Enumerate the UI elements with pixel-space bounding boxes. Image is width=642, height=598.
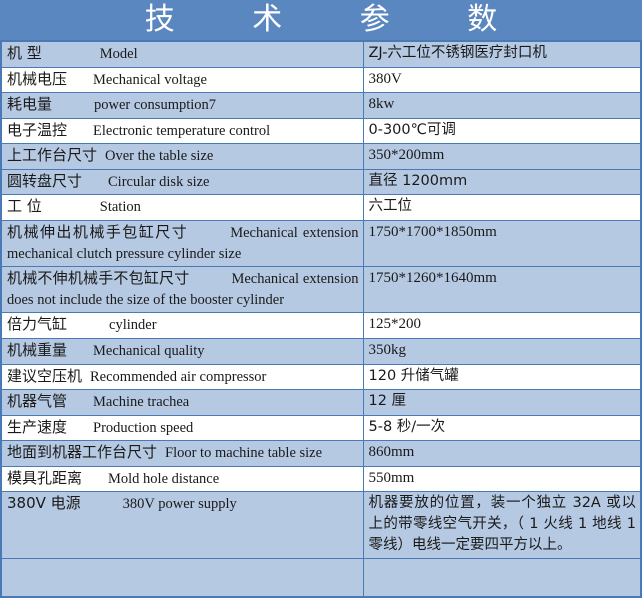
table-row: 工 位Station 六工位	[1, 195, 641, 221]
row-label-en: Model	[100, 46, 138, 62]
row-label: 地面到机器工作台尺寸Floor to machine table size	[7, 442, 359, 464]
row-value: 350kg	[369, 340, 637, 361]
row-label-cell: 机械伸出机械手包缸尺寸Mechanical extension mechanic…	[1, 221, 363, 267]
row-label-en: power consumption7	[94, 97, 216, 113]
row-label-en: Mechanical quality	[93, 343, 205, 359]
row-label-en: Station	[100, 199, 141, 215]
row-label-cn: 机械不伸机械手不包缸尺寸	[7, 269, 189, 287]
row-value-cell: 12 厘	[363, 390, 641, 416]
row-label-cn: 机械重量	[7, 341, 67, 359]
row-label: 工 位Station	[7, 196, 359, 218]
row-label-cell: 机械不伸机械手不包缸尺寸Mechanical extension does no…	[1, 267, 363, 313]
row-label-cn: 模具孔距离	[7, 469, 82, 487]
row-label: 380V 电源380V power supply	[7, 493, 359, 515]
technical-parameters-sheet: 技 术 参 数 机 型Model ZJ-六工位不锈钢医疗封口机 机械电压Mech…	[0, 0, 642, 566]
row-label: 机械伸出机械手包缸尺寸Mechanical extension mechanic…	[7, 222, 359, 264]
table-row: 机械伸出机械手包缸尺寸Mechanical extension mechanic…	[1, 221, 641, 267]
title-band: 技 术 参 数	[0, 0, 642, 40]
row-label-cell: 生产速度Production speed	[1, 415, 363, 441]
spec-table-body: 机 型Model ZJ-六工位不锈钢医疗封口机 机械电压Mechanical v…	[1, 41, 641, 597]
row-label: 上工作台尺寸Over the table size	[7, 145, 359, 167]
row-value: 350*200mm	[369, 145, 637, 166]
row-label-cell: 机械重量Mechanical quality	[1, 338, 363, 364]
row-value: 六工位	[369, 196, 637, 217]
row-label-cell: 工 位Station	[1, 195, 363, 221]
row-label: 机械电压Mechanical voltage	[7, 69, 359, 91]
row-label-cell: 建议空压机Recommended air compressor	[1, 364, 363, 390]
row-label-en: Electronic temperature control	[93, 123, 270, 139]
row-value-cell: 机器要放的位置，装一个独立 32A 或以上的带零线空气开关，（ 1 火线 1 地…	[363, 492, 641, 559]
row-value-cell: 0-300℃可调	[363, 118, 641, 144]
row-value: 1750*1260*1640mm	[369, 268, 637, 289]
row-label-cell: 耗电量power consumption7	[1, 93, 363, 119]
row-value-cell: 六工位	[363, 195, 641, 221]
table-row: 倍力气缸cylinder 125*200	[1, 313, 641, 339]
table-row: 机 型Model ZJ-六工位不锈钢医疗封口机	[1, 41, 641, 67]
row-label-cell: 地面到机器工作台尺寸Floor to machine table size	[1, 441, 363, 467]
row-label-cn: 上工作台尺寸	[7, 146, 97, 164]
row-label-cell: 上工作台尺寸Over the table size	[1, 144, 363, 170]
row-label-cn: 电子温控	[7, 121, 67, 139]
row-label: 机械重量Mechanical quality	[7, 340, 359, 362]
table-row: 建议空压机Recommended air compressor 120 升储气罐	[1, 364, 641, 390]
row-value: 直径 1200mm	[369, 171, 637, 192]
row-value-cell: 550mm	[363, 466, 641, 492]
page-title: 技 术 参 数	[111, 5, 532, 35]
row-value: 380V	[369, 69, 637, 90]
row-label: 模具孔距离Mold hole distance	[7, 468, 359, 490]
row-label: 倍力气缸cylinder	[7, 314, 359, 336]
row-label: 建议空压机Recommended air compressor	[7, 366, 359, 388]
row-value: 550mm	[369, 468, 637, 489]
table-row: 圆转盘尺寸Circular disk size 直径 1200mm	[1, 169, 641, 195]
row-label-cell: 倍力气缸cylinder	[1, 313, 363, 339]
row-label-cn: 380V 电源	[7, 494, 81, 512]
row-value: 机器要放的位置，装一个独立 32A 或以上的带零线空气开关，（ 1 火线 1 地…	[369, 493, 637, 556]
row-value: 125*200	[369, 314, 637, 335]
row-value: 860mm	[369, 442, 637, 463]
row-value-cell: 5-8 秒/一次	[363, 415, 641, 441]
row-label: 机器气管Machine trachea	[7, 391, 359, 413]
row-value-cell: 直径 1200mm	[363, 169, 641, 195]
row-label-cell: 模具孔距离Mold hole distance	[1, 466, 363, 492]
row-value: ZJ-六工位不锈钢医疗封口机	[369, 43, 637, 64]
table-row: 上工作台尺寸Over the table size 350*200mm	[1, 144, 641, 170]
row-value-cell: 8kw	[363, 93, 641, 119]
row-label-en: Over the table size	[105, 148, 213, 164]
row-label-cn: 机 型	[7, 44, 42, 62]
row-label-en: Floor to machine table size	[165, 445, 322, 461]
row-label-cn: 耗电量	[7, 95, 52, 113]
row-label-cell: 圆转盘尺寸Circular disk size	[1, 169, 363, 195]
row-value: 120 升储气罐	[369, 366, 637, 387]
row-label-en: Mechanical voltage	[93, 72, 207, 88]
table-row: 机械电压Mechanical voltage 380V	[1, 67, 641, 93]
row-value-cell	[363, 559, 641, 597]
row-label-cell: 380V 电源380V power supply	[1, 492, 363, 559]
row-label-en: Recommended air compressor	[90, 369, 266, 385]
row-value: 1750*1700*1850mm	[369, 222, 637, 243]
row-label-cn: 机械伸出机械手包缸尺寸	[7, 223, 188, 241]
row-value-cell: 1750*1260*1640mm	[363, 267, 641, 313]
row-label-cn: 圆转盘尺寸	[7, 172, 82, 190]
table-row: 模具孔距离Mold hole distance 550mm	[1, 466, 641, 492]
row-label-en: 380V power supply	[123, 496, 237, 512]
row-value-cell: 1750*1700*1850mm	[363, 221, 641, 267]
row-value: 5-8 秒/一次	[369, 417, 637, 438]
row-label-cn: 建议空压机	[7, 367, 82, 385]
row-label-en: Production speed	[93, 420, 193, 436]
row-label: 电子温控Electronic temperature control	[7, 120, 359, 142]
row-label-en: Machine trachea	[93, 394, 189, 410]
row-value-cell: 120 升储气罐	[363, 364, 641, 390]
table-row: 机器气管Machine trachea 12 厘	[1, 390, 641, 416]
row-label-cn: 机械电压	[7, 70, 67, 88]
row-value-cell: 350*200mm	[363, 144, 641, 170]
row-label-cn: 机器气管	[7, 392, 67, 410]
row-value: 12 厘	[369, 391, 637, 412]
row-label-cn: 工 位	[7, 197, 42, 215]
table-row: 机械重量Mechanical quality 350kg	[1, 338, 641, 364]
table-row-empty	[1, 559, 641, 597]
row-label: 机 型Model	[7, 43, 359, 65]
table-row: 机械不伸机械手不包缸尺寸Mechanical extension does no…	[1, 267, 641, 313]
row-value-cell: 125*200	[363, 313, 641, 339]
row-label-en: cylinder	[109, 317, 157, 333]
row-label-cell: 机械电压Mechanical voltage	[1, 67, 363, 93]
table-row: 380V 电源380V power supply 机器要放的位置，装一个独立 3…	[1, 492, 641, 559]
row-value: 8kw	[369, 94, 637, 115]
row-value-cell: 350kg	[363, 338, 641, 364]
row-label-cell	[1, 559, 363, 597]
row-label: 耗电量power consumption7	[7, 94, 359, 116]
table-row: 生产速度Production speed 5-8 秒/一次	[1, 415, 641, 441]
table-row: 电子温控Electronic temperature control 0-300…	[1, 118, 641, 144]
row-label-cell: 机器气管Machine trachea	[1, 390, 363, 416]
row-label-cn: 地面到机器工作台尺寸	[7, 443, 157, 461]
row-value: 0-300℃可调	[369, 120, 637, 141]
row-label-cn: 倍力气缸	[7, 315, 67, 333]
row-label-en: Circular disk size	[108, 174, 209, 190]
row-value-cell: 380V	[363, 67, 641, 93]
row-label: 圆转盘尺寸Circular disk size	[7, 171, 359, 193]
row-label-en: Mold hole distance	[108, 471, 219, 487]
row-label: 机械不伸机械手不包缸尺寸Mechanical extension does no…	[7, 268, 359, 310]
row-label-cn: 生产速度	[7, 418, 67, 436]
spec-table: 机 型Model ZJ-六工位不锈钢医疗封口机 机械电压Mechanical v…	[0, 40, 642, 598]
row-label: 生产速度Production speed	[7, 417, 359, 439]
row-value-cell: ZJ-六工位不锈钢医疗封口机	[363, 41, 641, 67]
row-label-cell: 机 型Model	[1, 41, 363, 67]
table-row: 地面到机器工作台尺寸Floor to machine table size 86…	[1, 441, 641, 467]
table-row: 耗电量power consumption7 8kw	[1, 93, 641, 119]
row-label-cell: 电子温控Electronic temperature control	[1, 118, 363, 144]
row-value-cell: 860mm	[363, 441, 641, 467]
